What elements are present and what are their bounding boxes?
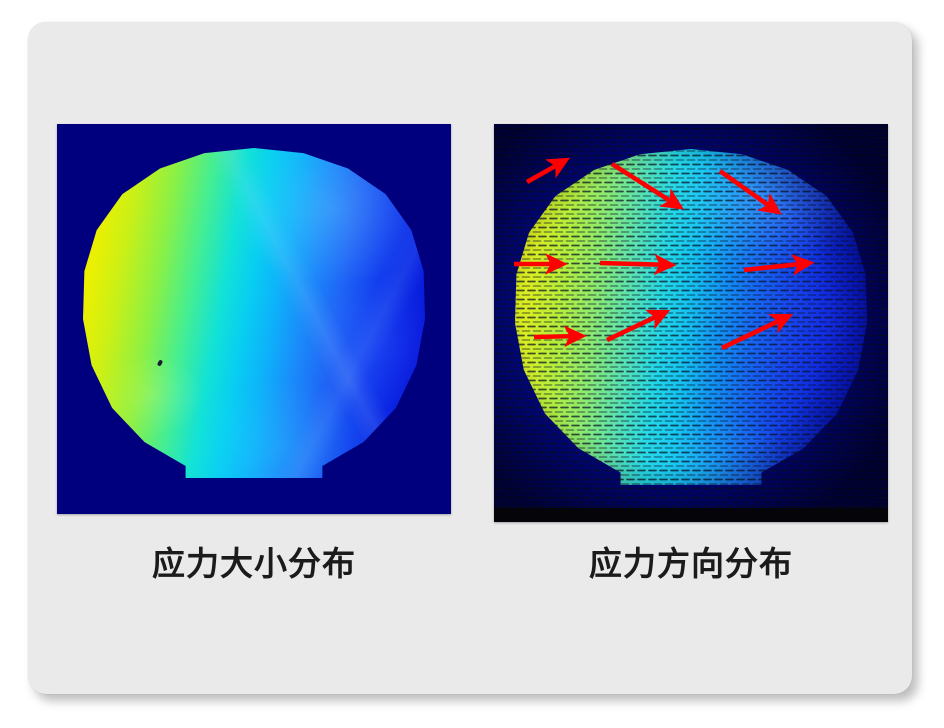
arrow-lower-center xyxy=(607,312,666,340)
stress-arrow-overlay xyxy=(494,124,888,522)
caption-stress-direction: 应力方向分布 xyxy=(494,542,888,586)
arrow-top-left xyxy=(527,160,566,182)
arrow-top-right xyxy=(720,171,778,212)
stress-direction-image[interactable] xyxy=(494,124,888,522)
arrow-lower-left xyxy=(534,336,582,337)
arrow-mid-right xyxy=(744,263,810,270)
caption-stress-magnitude: 应力大小分布 xyxy=(57,542,451,586)
figure-stress-magnitude: 应力大小分布 xyxy=(57,124,451,514)
figure-stress-direction: 应力方向分布 xyxy=(494,124,888,522)
arrow-mid-center xyxy=(600,263,672,265)
slide-root: 应力大小分布 xyxy=(0,0,944,728)
stress-magnitude-image[interactable] xyxy=(57,124,451,514)
arrow-lower-right xyxy=(722,316,789,348)
arrow-top-mid xyxy=(612,164,680,207)
slide-panel: 应力大小分布 xyxy=(28,22,912,694)
arrow-group xyxy=(514,160,810,348)
